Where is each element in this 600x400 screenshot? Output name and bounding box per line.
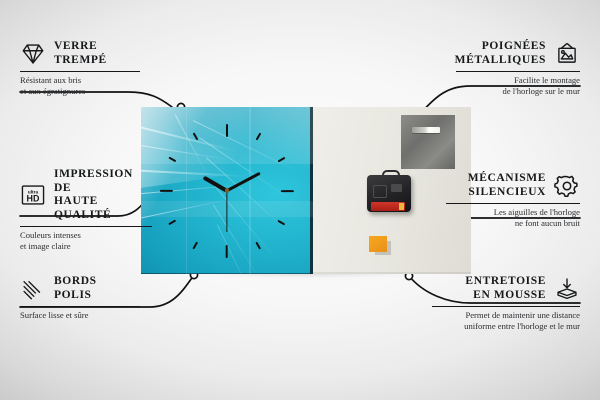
feature-subtitle-line1: Surface lisse et sûre bbox=[20, 310, 140, 320]
feature-title-line2: POLIS bbox=[54, 289, 97, 303]
foam-spacer-arrow-icon bbox=[554, 276, 580, 302]
feature-title-line2: EN MOUSSE bbox=[465, 289, 546, 303]
feature-title-line1: IMPRESSION DE bbox=[54, 168, 152, 195]
infographic-canvas: VERRE TREMPÉ Résistant aux bris et aux é… bbox=[0, 0, 600, 400]
feature-divider bbox=[20, 71, 140, 72]
feature-impression-haute-qualite[interactable]: ultra HD IMPRESSION DE HAUTE QUALITÉ Cou… bbox=[20, 168, 152, 251]
clock-front-glass-panel bbox=[141, 107, 313, 274]
feature-divider bbox=[456, 71, 580, 72]
polished-edge-icon bbox=[20, 276, 46, 302]
feature-subtitle-line2: de l'horloge sur le mur bbox=[456, 86, 580, 96]
gear-icon bbox=[554, 173, 580, 199]
feature-title-line1: ENTRETOISE bbox=[465, 275, 546, 289]
feature-subtitle-line2: ne font aucun bruit bbox=[446, 218, 580, 228]
feature-title-line1: VERRE bbox=[54, 40, 107, 54]
feature-entretoise-en-mousse[interactable]: ENTRETOISE EN MOUSSE Permet de maintenir… bbox=[432, 275, 580, 331]
feature-poignees-metalliques[interactable]: POIGNÉES MÉTALLIQUES Facilite le montage… bbox=[456, 40, 580, 96]
foam-spacer bbox=[369, 236, 387, 252]
mechanism-dial bbox=[373, 185, 387, 198]
feature-subtitle-line1: Facilite le montage bbox=[456, 75, 580, 85]
battery-terminal bbox=[399, 203, 404, 210]
ultra-hd-icon: ultra HD bbox=[20, 182, 46, 208]
feature-title-line2: SILENCIEUX bbox=[468, 186, 546, 200]
clock-tick bbox=[160, 190, 173, 192]
feature-title-line1: POIGNÉES bbox=[455, 40, 546, 54]
clock-tick bbox=[169, 219, 177, 224]
feature-bords-polis[interactable]: BORDS POLIS Surface lisse et sûre bbox=[20, 275, 140, 321]
feature-divider bbox=[20, 226, 152, 227]
clock-tick bbox=[281, 190, 294, 192]
feature-mecanisme-silencieux[interactable]: MÉCANISME SILENCIEUX Les aiguilles de l'… bbox=[446, 172, 580, 228]
feature-verre-trempe[interactable]: VERRE TREMPÉ Résistant aux bris et aux é… bbox=[20, 40, 140, 96]
hanger-keyhole-slot bbox=[412, 127, 440, 133]
feature-divider bbox=[446, 203, 580, 204]
product-wall-clock bbox=[141, 107, 471, 274]
clock-tick bbox=[226, 245, 228, 258]
battery bbox=[371, 202, 405, 211]
clock-mechanism bbox=[367, 170, 411, 212]
clock-tick bbox=[226, 124, 228, 137]
feature-divider bbox=[432, 306, 580, 307]
feature-title-line1: BORDS bbox=[54, 275, 97, 289]
picture-frame-hanger-icon bbox=[554, 41, 580, 67]
feature-title-line2: MÉTALLIQUES bbox=[455, 54, 546, 68]
clock-tick bbox=[193, 241, 198, 249]
feature-subtitle-line1: Couleurs intenses bbox=[20, 230, 152, 240]
clock-center-pin bbox=[225, 188, 229, 192]
feature-divider bbox=[20, 306, 140, 307]
metal-hanger-plate bbox=[401, 115, 455, 169]
mechanism-body bbox=[367, 175, 411, 212]
feature-title-line2: TREMPÉ bbox=[54, 54, 107, 68]
feature-subtitle-line2: et aux égratignures bbox=[20, 86, 140, 96]
feature-subtitle-line1: Permet de maintenir une distance bbox=[432, 310, 580, 320]
feature-title-line1: MÉCANISME bbox=[468, 172, 546, 186]
feature-subtitle-line2: et image claire bbox=[20, 241, 152, 251]
diamond-icon bbox=[20, 41, 46, 67]
feature-subtitle-line2: uniforme entre l'horloge et le mur bbox=[432, 321, 580, 331]
feature-subtitle-line1: Résistant aux bris bbox=[20, 75, 140, 85]
ultra-hd-icon-label-bottom: HD bbox=[27, 194, 40, 204]
mechanism-label bbox=[391, 184, 402, 192]
feature-title-line2: HAUTE QUALITÉ bbox=[54, 195, 152, 222]
feature-subtitle-line1: Les aiguilles de l'horloge bbox=[446, 207, 580, 217]
